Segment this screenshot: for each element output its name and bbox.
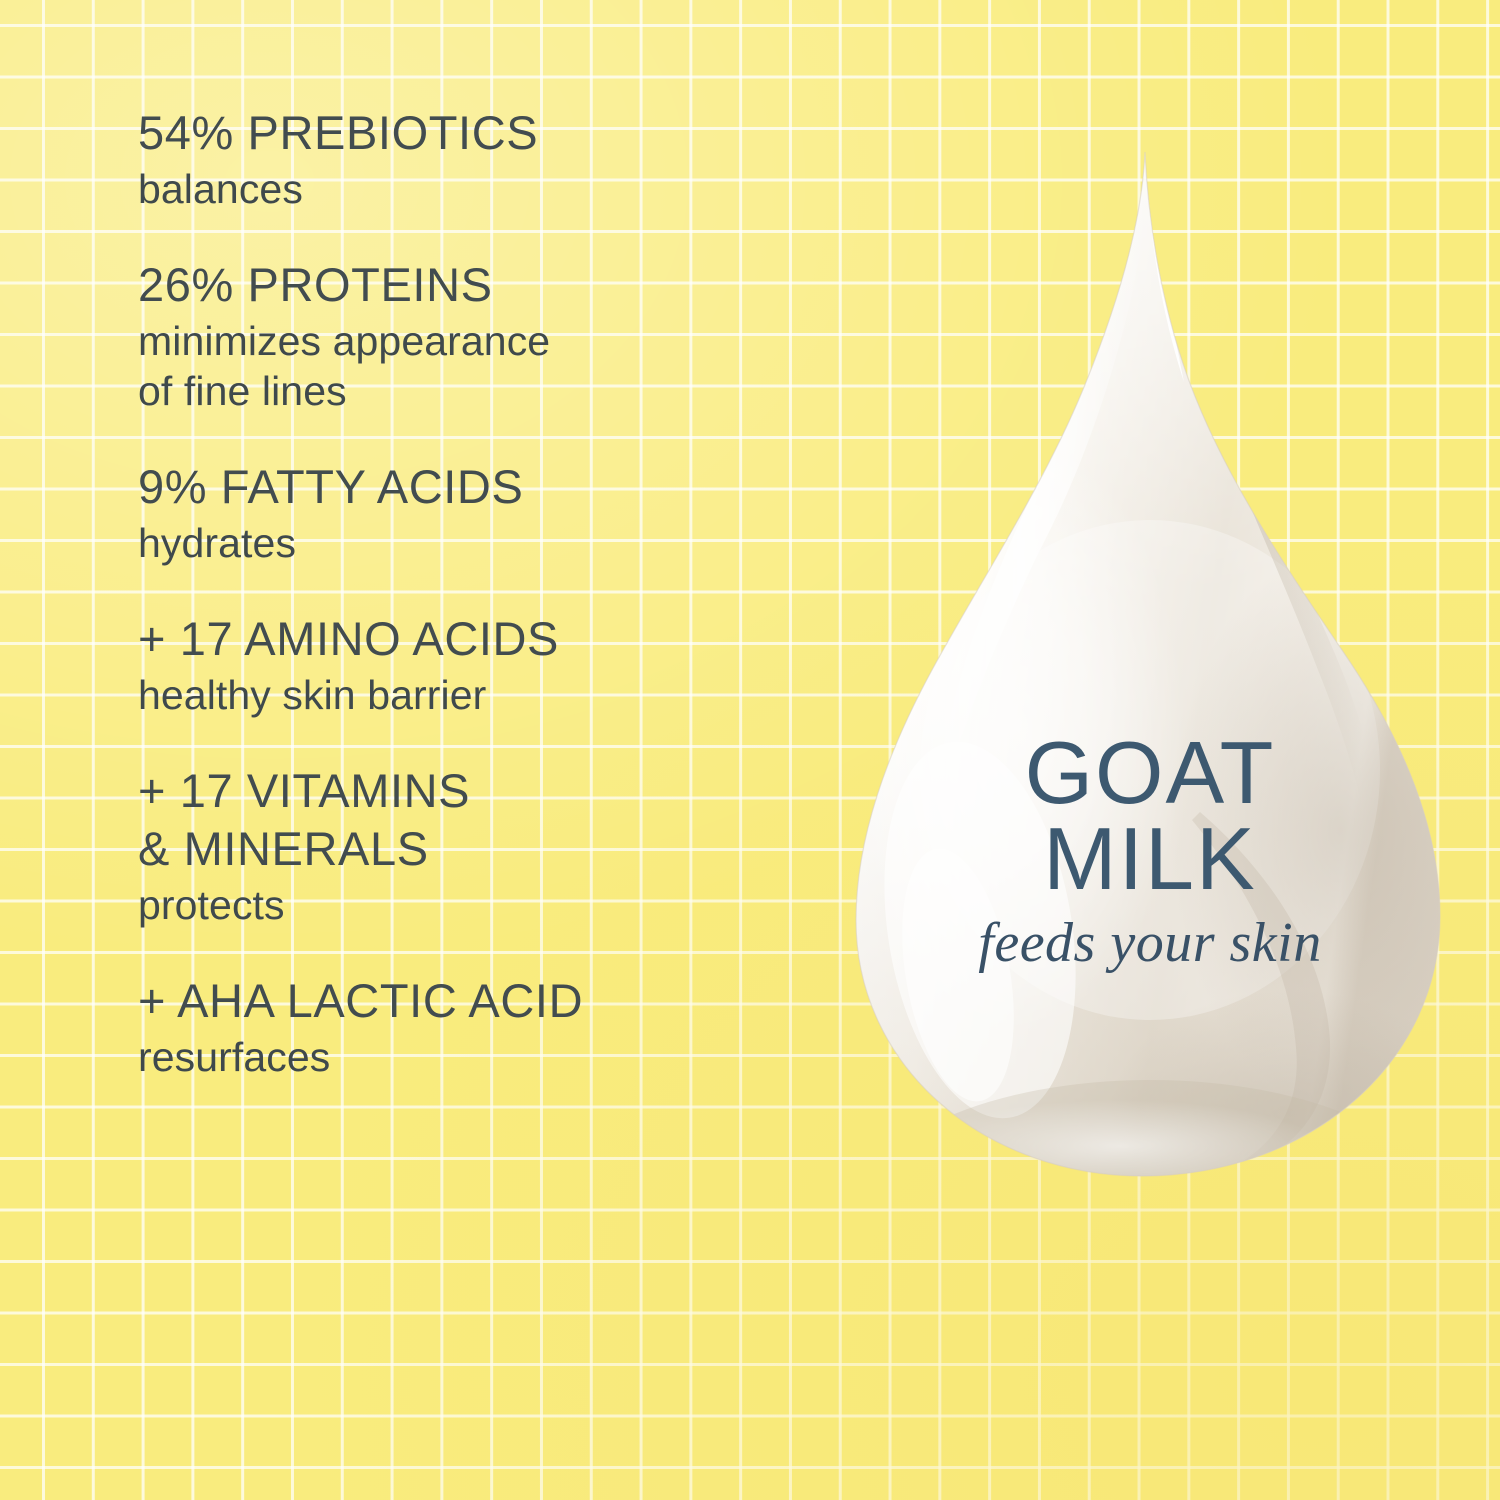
ingredient-benefit: healthy skin barrier	[138, 670, 838, 720]
ingredient-headline: 9% FATTY ACIDS	[138, 458, 838, 516]
ingredient-list: 54% PREBIOTICS balances 26% PROTEINS min…	[138, 104, 838, 1082]
ingredient-item-proteins: 26% PROTEINS minimizes appearance of fin…	[138, 256, 838, 416]
ingredient-headline: + 17 AMINO ACIDS	[138, 610, 838, 668]
ingredient-item-prebiotics: 54% PREBIOTICS balances	[138, 104, 838, 214]
ingredient-benefit: protects	[138, 880, 838, 930]
ingredient-benefit: hydrates	[138, 518, 838, 568]
ingredient-infographic: 54% PREBIOTICS balances 26% PROTEINS min…	[0, 0, 1500, 1500]
ingredient-item-vitamins-minerals: + 17 VITAMINS & MINERALS protects	[138, 762, 838, 930]
ingredient-headline: 54% PREBIOTICS	[138, 104, 838, 162]
ingredient-headline: + 17 VITAMINS & MINERALS	[138, 762, 838, 878]
ingredient-item-aha-lactic-acid: + AHA LACTIC ACID resurfaces	[138, 972, 838, 1082]
ingredient-item-fatty-acids: 9% FATTY ACIDS hydrates	[138, 458, 838, 568]
ingredient-headline: 26% PROTEINS	[138, 256, 838, 314]
ingredient-benefit: resurfaces	[138, 1032, 838, 1082]
ingredient-benefit: minimizes appearance of fine lines	[138, 316, 838, 416]
ingredient-benefit: balances	[138, 164, 838, 214]
ingredient-headline: + AHA LACTIC ACID	[138, 972, 838, 1030]
milk-droplet-icon	[820, 130, 1480, 1200]
ingredient-item-amino-acids: + 17 AMINO ACIDS healthy skin barrier	[138, 610, 838, 720]
milk-droplet-graphic: GOAT MILK feeds your skin	[820, 130, 1480, 1200]
